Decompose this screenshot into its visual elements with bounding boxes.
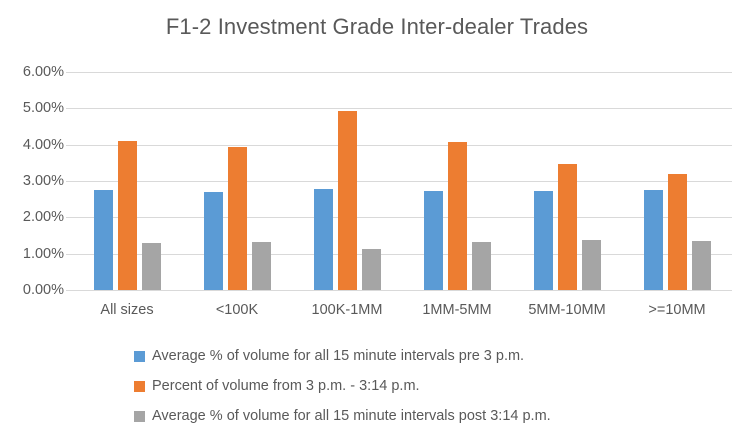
x-axis-tick-label: All sizes (100, 302, 153, 318)
bar[interactable] (534, 191, 553, 290)
x-axis-tick-label: 1MM-5MM (422, 302, 491, 318)
legend-swatch-icon (134, 351, 145, 362)
bar[interactable] (228, 147, 247, 290)
bar[interactable] (94, 190, 113, 290)
y-axis-tick-label: 2.00% (0, 209, 64, 225)
bar[interactable] (204, 192, 223, 290)
y-axis-tick-label: 6.00% (0, 64, 64, 80)
bar-chart: F1-2 Investment Grade Inter-dealer Trade… (0, 0, 754, 448)
bar[interactable] (142, 243, 161, 290)
bar-group (94, 72, 161, 290)
legend-label: Average % of volume for all 15 minute in… (152, 349, 524, 364)
x-axis-tick-label: <100K (216, 302, 258, 318)
gridline (72, 217, 732, 218)
bar[interactable] (472, 242, 491, 290)
legend-label: Percent of volume from 3 p.m. - 3:14 p.m… (152, 379, 420, 394)
bar[interactable] (448, 142, 467, 290)
y-axis-tick-label: 0.00% (0, 282, 64, 298)
legend-item[interactable]: Average % of volume for all 15 minute in… (0, 341, 754, 371)
bar[interactable] (668, 174, 687, 290)
bar[interactable] (424, 191, 443, 290)
bar[interactable] (558, 164, 577, 290)
gridline (72, 145, 732, 146)
gridline (72, 181, 732, 182)
chart-legend: Average % of volume for all 15 minute in… (0, 341, 754, 431)
legend-item[interactable]: Percent of volume from 3 p.m. - 3:14 p.m… (0, 371, 754, 401)
chart-title: F1-2 Investment Grade Inter-dealer Trade… (0, 14, 754, 40)
legend-label: Average % of volume for all 15 minute in… (152, 409, 551, 424)
gridline (72, 108, 732, 109)
legend-item[interactable]: Average % of volume for all 15 minute in… (0, 401, 754, 431)
bar-group (204, 72, 271, 290)
bar[interactable] (338, 111, 357, 290)
bar-group (314, 72, 381, 290)
bar-group (424, 72, 491, 290)
bar-group (534, 72, 601, 290)
y-axis-tick-label: 5.00% (0, 100, 64, 116)
gridline (72, 72, 732, 73)
bar[interactable] (118, 141, 137, 290)
bar[interactable] (692, 241, 711, 290)
bar[interactable] (314, 189, 333, 290)
bar[interactable] (582, 240, 601, 291)
bar[interactable] (644, 190, 663, 290)
plot-area (72, 72, 732, 290)
legend-swatch-icon (134, 411, 145, 422)
gridline (72, 290, 732, 291)
bar[interactable] (252, 242, 271, 290)
gridline (72, 254, 732, 255)
y-axis-tick-label: 4.00% (0, 137, 64, 153)
y-axis-tick-label: 1.00% (0, 246, 64, 262)
x-axis-tick-label: >=10MM (648, 302, 705, 318)
y-axis-tick-label: 3.00% (0, 173, 64, 189)
legend-swatch-icon (134, 381, 145, 392)
x-axis-tick-label: 5MM-10MM (528, 302, 605, 318)
bar[interactable] (362, 249, 381, 290)
bar-group (644, 72, 711, 290)
x-axis-tick-label: 100K-1MM (312, 302, 383, 318)
